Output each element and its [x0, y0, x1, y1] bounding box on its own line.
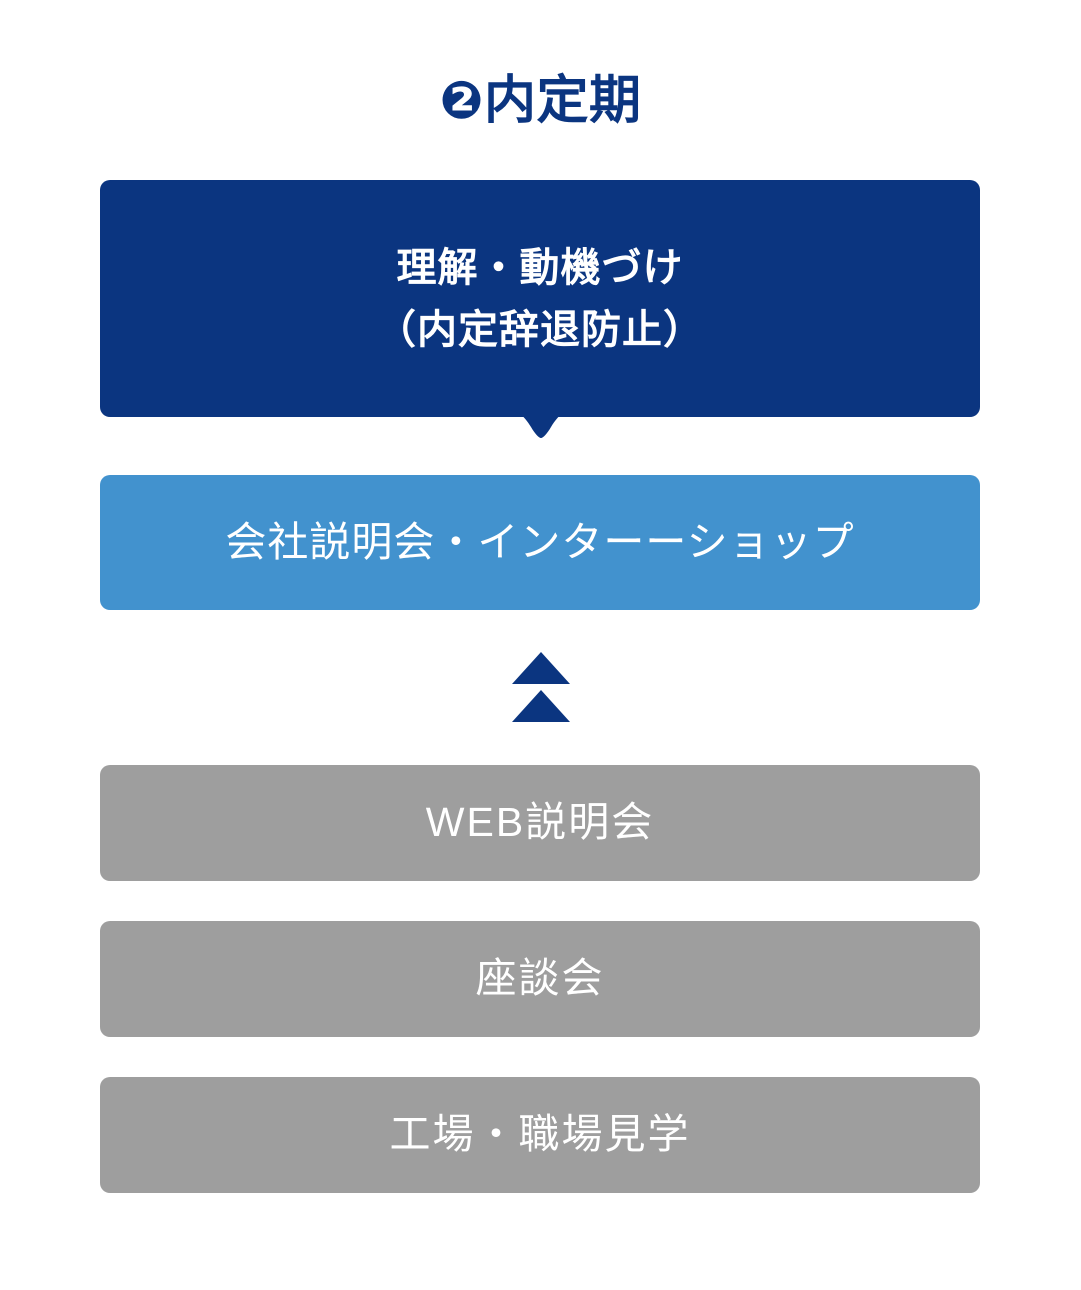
highlight-box-label: 会社説明会・インターーショップ: [225, 518, 854, 567]
connector-arrows: [0, 652, 1081, 724]
diagram-card: ❷内定期 理解・動機づけ （内定辞退防止） 会社説明会・インターーショップ WE…: [0, 0, 1081, 1290]
arrow-up-icon: [512, 652, 570, 684]
option-box-web-briefing: WEB説明会: [100, 765, 980, 881]
option-box-factory-tour: 工場・職場見学: [100, 1077, 980, 1193]
option-box-label: WEB説明会: [426, 798, 654, 847]
highlight-box: 会社説明会・インターーショップ: [100, 475, 980, 610]
option-box-label: 工場・職場見学: [390, 1110, 691, 1159]
speech-bubble-tail-icon: [505, 408, 577, 440]
arrow-up-icon: [512, 690, 570, 722]
goal-box: 理解・動機づけ （内定辞退防止）: [100, 180, 980, 417]
option-box-label: 座談会: [476, 954, 605, 1003]
goal-box-label: 理解・動機づけ （内定辞退防止）: [376, 237, 704, 361]
option-box-roundtable: 座談会: [100, 921, 980, 1037]
page-title: ❷内定期: [0, 72, 1081, 132]
